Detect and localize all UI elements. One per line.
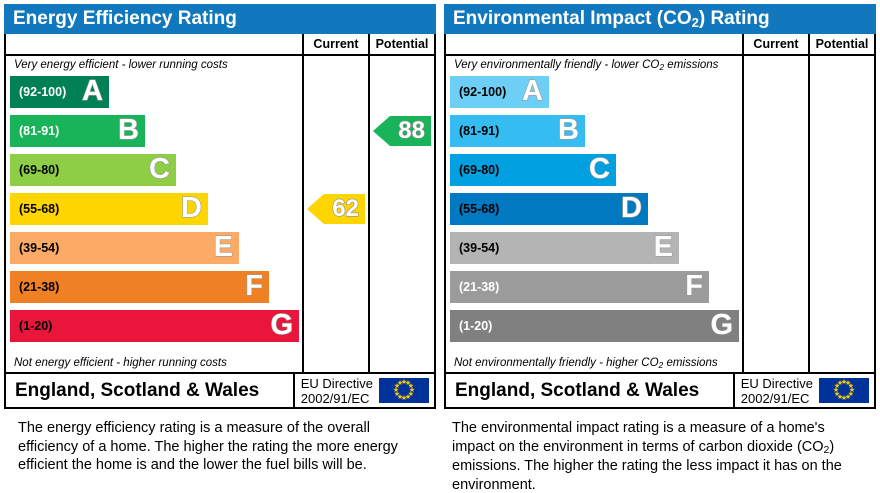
environment-band-c: (69-80) C [450,154,616,186]
environment-band-a-range: (92-100) [459,86,506,99]
environmental-impact-grid: Current Potential Very environmentally f… [444,34,876,409]
energy-directive-line1: EU Directive [301,376,373,391]
energy-band-c-range: (69-80) [19,164,59,177]
energy-body-row: Very energy efficient - lower running co… [6,56,434,374]
energy-band-d-letter: D [181,194,202,223]
environment-band-c-range: (69-80) [459,164,499,177]
energy-efficiency-grid: Current Potential Very energy efficient … [4,34,436,409]
environment-band-d-range: (55-68) [459,203,499,216]
energy-band-a-range: (92-100) [19,86,66,99]
energy-current-column: 62 [302,56,368,372]
energy-band-a: (92-100) A [10,76,109,108]
environment-directive-line2: 2002/91/EC [741,391,813,406]
energy-current-marker: 62 [307,194,365,224]
eu-star-icon: ★ [837,380,844,387]
energy-potential-column: 88 [368,56,434,372]
environment-band-g-letter: G [710,311,733,340]
environment-band-b: (81-91) B [450,115,585,147]
environment-band-f: (21-38) F [450,271,709,303]
energy-efficiency-panel: Energy Efficiency Rating Current Potenti… [4,4,436,409]
environment-band-list: (92-100) A (81-91) B (69-80) C (55-68) [446,76,742,354]
environment-band-d: (55-68) D [450,193,648,225]
environment-footer-row: England, Scotland & Wales EU Directive 2… [446,374,874,407]
environment-band-f-letter: F [685,272,703,301]
environment-band-a-letter: A [522,77,543,106]
eu-flag-icon-right: ★★★★★★★★★★★★ [819,378,869,403]
environment-footer-directive: EU Directive 2002/91/EC [733,374,819,407]
energy-potential-value: 88 [398,119,425,143]
environment-band-e-range: (39-54) [459,242,499,255]
energy-potential-marker: 88 [373,116,431,146]
energy-band-b-range: (81-91) [19,125,59,138]
energy-header-current: Current [302,34,368,54]
energy-footer-directive: EU Directive 2002/91/EC [293,374,379,407]
eu-flag-icon: ★★★★★★★★★★★★ [379,378,429,403]
environment-potential-column [808,56,874,372]
environmental-impact-title: Environmental Impact (CO2) Rating [444,4,876,34]
environment-band-b-letter: B [558,116,579,145]
environment-band-b-range: (81-91) [459,125,499,138]
energy-band-d: (55-68) D [10,193,208,225]
energy-header-row: Current Potential [6,34,434,56]
environment-band-g: (1-20) G [450,310,739,342]
energy-header-spacer [6,34,302,54]
environment-directive-line1: EU Directive [741,376,813,391]
environmental-impact-note: The environmental impact rating is a mea… [452,419,864,493]
energy-efficiency-title-text: Energy Efficiency Rating [13,8,237,29]
environment-bottom-caption: Not environmentally friendly - higher CO… [446,354,742,374]
co2-subscript-bottom: 2 [659,360,664,370]
energy-footer-region: England, Scotland & Wales [6,374,293,407]
energy-band-e-range: (39-54) [19,242,59,255]
environment-body-row: Very environmentally friendly - lower CO… [446,56,874,374]
energy-band-f-range: (21-38) [19,281,59,294]
environment-band-f-range: (21-38) [459,281,499,294]
environment-band-d-letter: D [621,194,642,223]
environment-header-current: Current [742,34,808,54]
energy-bands-area: Very energy efficient - lower running co… [6,56,302,372]
energy-band-b-letter: B [118,116,139,145]
environment-band-g-range: (1-20) [459,320,492,333]
environmental-impact-panel: Environmental Impact (CO2) Rating Curren… [444,4,876,409]
energy-header-potential: Potential [368,34,434,54]
energy-band-f-letter: F [245,272,263,301]
environment-current-column [742,56,808,372]
energy-band-g-range: (1-20) [19,320,52,333]
energy-band-a-letter: A [82,77,103,106]
co2-subscript-note: 2 [824,444,830,456]
energy-band-f: (21-38) F [10,271,269,303]
environment-bands-area: Very environmentally friendly - lower CO… [446,56,742,372]
energy-band-c: (69-80) C [10,154,176,186]
environment-band-e-letter: E [654,233,673,262]
energy-band-c-letter: C [149,155,170,184]
environment-header-row: Current Potential [446,34,874,56]
environment-top-caption: Very environmentally friendly - lower CO… [446,56,742,76]
energy-bottom-caption: Not energy efficient - higher running co… [6,354,302,374]
energy-efficiency-note: The energy efficiency rating is a measur… [18,419,418,475]
energy-footer-row: England, Scotland & Wales EU Directive 2… [6,374,434,407]
energy-band-e-letter: E [214,233,233,262]
environment-header-potential: Potential [808,34,874,54]
energy-band-list: (92-100) A (81-91) B (69-80) C (55-68) [6,76,302,354]
energy-current-value: 62 [332,197,359,221]
energy-band-b: (81-91) B [10,115,145,147]
environment-header-spacer [446,34,742,54]
eu-star-icon: ★ [397,380,404,387]
environment-footer-region: England, Scotland & Wales [446,374,733,407]
energy-band-e: (39-54) E [10,232,239,264]
co2-subscript-top: 2 [659,62,664,72]
energy-band-d-range: (55-68) [19,203,59,216]
environment-band-c-letter: C [589,155,610,184]
co2-subscript: 2 [692,15,699,30]
energy-band-g: (1-20) G [10,310,299,342]
environment-band-e: (39-54) E [450,232,679,264]
environment-band-a: (92-100) A [450,76,549,108]
energy-top-caption: Very energy efficient - lower running co… [6,56,302,76]
energy-band-g-letter: G [270,311,293,340]
energy-directive-line2: 2002/91/EC [301,391,373,406]
epc-rating-page: Energy Efficiency Rating Current Potenti… [0,0,880,493]
energy-efficiency-title: Energy Efficiency Rating [4,4,436,34]
